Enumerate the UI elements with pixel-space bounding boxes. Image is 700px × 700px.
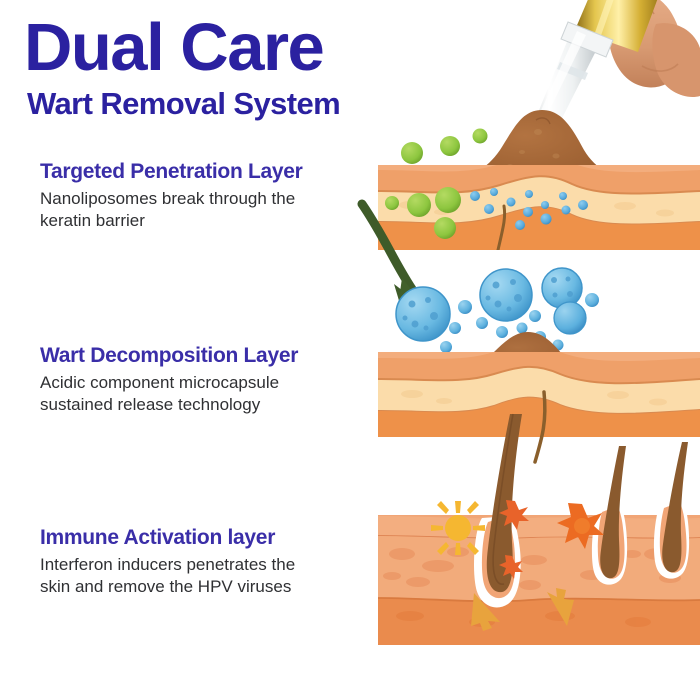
skin-cross-section xyxy=(378,345,700,437)
page-title: Dual Care xyxy=(24,14,323,81)
panel-wart-decomposition-illustration xyxy=(370,232,700,462)
step-2-title: Wart Decomposition Layer xyxy=(40,344,370,367)
step-3-title: Immune Activation layer xyxy=(40,526,370,549)
blue-liposomes xyxy=(396,268,586,341)
infographic-page: Dual Care Wart Removal System Targeted P… xyxy=(0,0,700,700)
skin-cross-section xyxy=(378,515,700,645)
step-wart-decomposition: Wart Decomposition Layer Acidic componen… xyxy=(40,344,370,416)
step-1-body: Nanoliposomes break through the keratin … xyxy=(40,188,330,232)
step-3-body: Interferon inducers penetrates the skin … xyxy=(40,554,330,598)
step-2-body: Acidic component microcapsule sustained … xyxy=(40,372,330,416)
step-targeted-penetration: Targeted Penetration Layer Nanoliposomes… xyxy=(40,160,370,232)
panel-targeted-penetration-illustration xyxy=(370,0,700,250)
panel-immune-activation-illustration xyxy=(370,430,700,660)
step-1-title: Targeted Penetration Layer xyxy=(40,160,370,183)
page-subtitle: Wart Removal System xyxy=(27,88,340,119)
text-column: Dual Care Wart Removal System Targeted P… xyxy=(0,0,380,700)
step-immune-activation: Immune Activation layer Interferon induc… xyxy=(40,526,370,598)
illustration-column xyxy=(370,0,700,700)
